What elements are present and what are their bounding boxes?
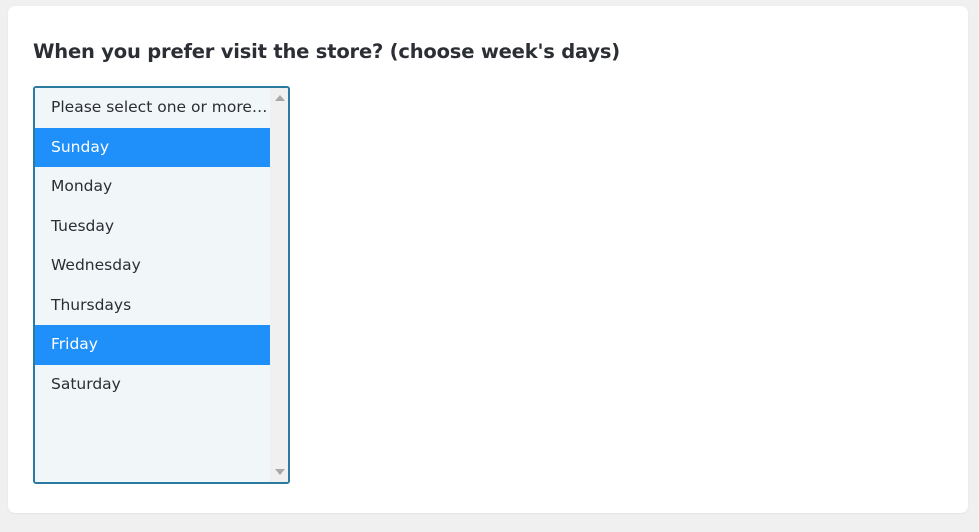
listbox-option[interactable]: Monday: [35, 167, 270, 207]
triangle-up-icon: [275, 95, 285, 101]
listbox-options[interactable]: Please select one or more ...SundayMonda…: [35, 88, 270, 482]
listbox-option[interactable]: Please select one or more ...: [35, 88, 270, 128]
listbox-option[interactable]: Sunday: [35, 128, 270, 168]
listbox-option[interactable]: Friday: [35, 325, 270, 365]
listbox-scrollbar[interactable]: [270, 88, 288, 482]
listbox-option[interactable]: Tuesday: [35, 207, 270, 247]
scroll-up-button[interactable]: [271, 90, 289, 106]
listbox-option[interactable]: Thursdays: [35, 286, 270, 326]
triangle-down-icon: [275, 469, 285, 475]
scrollbar-track[interactable]: [271, 106, 289, 464]
scroll-down-button[interactable]: [271, 464, 289, 480]
week-days-multiselect[interactable]: Please select one or more ...SundayMonda…: [33, 86, 290, 484]
page-root: When you prefer visit the store? (choose…: [0, 0, 979, 532]
listbox-option[interactable]: Saturday: [35, 365, 270, 405]
form-card: When you prefer visit the store? (choose…: [8, 6, 968, 513]
listbox-option[interactable]: Wednesday: [35, 246, 270, 286]
page-title: When you prefer visit the store? (choose…: [33, 40, 620, 63]
